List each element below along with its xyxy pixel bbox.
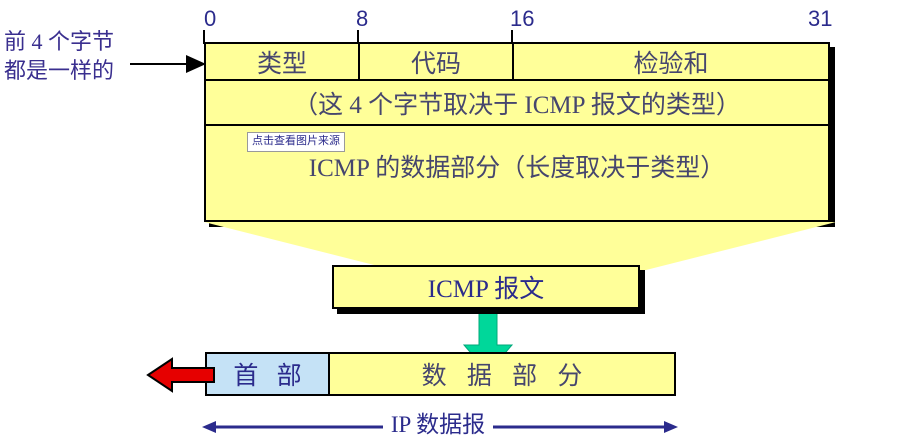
icmp-message-box: ICMP 报文 [332, 265, 640, 309]
ip-datagram-span-label: IP 数据报 [383, 412, 493, 438]
bit-tick-label-16: 16 [510, 8, 534, 30]
icmp-field-code: 代码 [360, 44, 514, 79]
icmp-field-checksum: 检验和 [514, 44, 828, 79]
bit-tick-label-0: 0 [204, 8, 216, 30]
icmp-packet-diagram: 前 4 个字节 都是一样的 0 8 16 31 类型 代码 检验和 （这 4 个… [0, 0, 920, 448]
outgoing-red-arrow [146, 356, 216, 394]
bit-tick-label-31: 31 [808, 8, 832, 30]
icmp-field-row: 类型 代码 检验和 [206, 44, 828, 81]
ip-data-cell: 数 据 部 分 [330, 352, 676, 396]
ip-header-cell: 首 部 [205, 352, 330, 396]
icmp-variable-header-row: （这 4 个字节取决于 ICMP 报文的类型） [206, 81, 828, 126]
bit-tick-label-8: 8 [356, 8, 368, 30]
ip-datagram-span-label-row: IP 数据报 [198, 412, 678, 438]
caption-pointer-arrow [130, 52, 210, 76]
image-source-tooltip[interactable]: 点击查看图片来源 [247, 132, 345, 152]
ip-datagram-row: 首 部 数 据 部 分 [205, 352, 676, 396]
icmp-field-type: 类型 [206, 44, 360, 79]
